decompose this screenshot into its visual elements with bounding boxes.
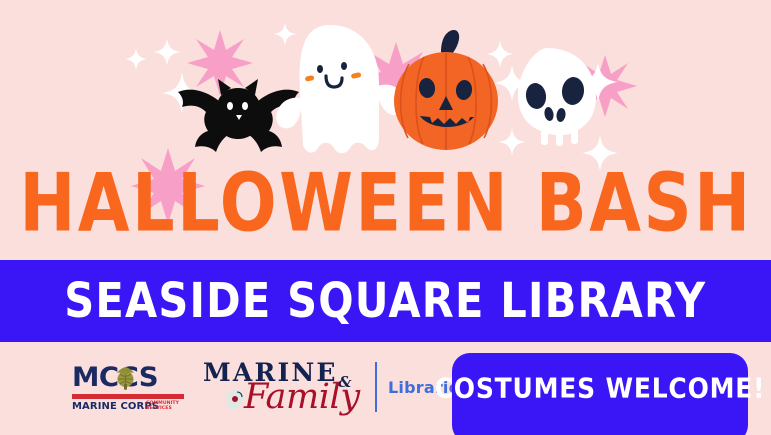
venue-name: SEASIDE SQUARE LIBRARY [64, 277, 706, 325]
mccs-logo: MCCS MARINE CORPS Community Services [72, 364, 184, 412]
eagle-globe-anchor-icon [113, 365, 138, 390]
white-sparkle [578, 62, 618, 102]
white-sparkle [494, 65, 530, 101]
venue-banner: SEASIDE SQUARE LIBRARY [0, 260, 771, 342]
costumes-welcome-text: COSTUMES WELCOME! [435, 374, 766, 403]
main-title-row: HALLOWEEN BASH [0, 163, 771, 245]
pink-star [359, 42, 433, 116]
white-sparkle [486, 40, 514, 68]
mfl-family-text: Family [244, 379, 360, 415]
mccs-subtitle-small: Community Services [146, 401, 186, 411]
jack-o-lantern-illustration [394, 30, 498, 150]
white-sparkle [273, 22, 297, 46]
mfl-divider [375, 362, 377, 412]
pink-star [573, 55, 637, 117]
page-title: HALLOWEEN BASH [19, 164, 752, 244]
mccs-red-bar [72, 394, 184, 399]
white-sparkle [162, 72, 202, 114]
ghost-illustration [276, 25, 405, 153]
skull-illustration [518, 48, 596, 146]
white-sparkle [498, 128, 526, 156]
mccs-wordmark: MCCS [72, 364, 184, 391]
mccs-subtitle-group: MARINE CORPS Community Services [72, 401, 184, 412]
halloween-bash-poster: HALLOWEEN BASH SEASIDE SQUARE LIBRARY MC… [0, 0, 771, 435]
white-sparkle [153, 38, 181, 66]
pink-star [187, 30, 253, 96]
marine-family-libraries-logo: MARINE & Family Libraries [203, 359, 431, 415]
white-sparkle [125, 48, 147, 70]
bat-illustration [178, 79, 299, 152]
costumes-welcome-badge: COSTUMES WELCOME! [452, 353, 748, 435]
